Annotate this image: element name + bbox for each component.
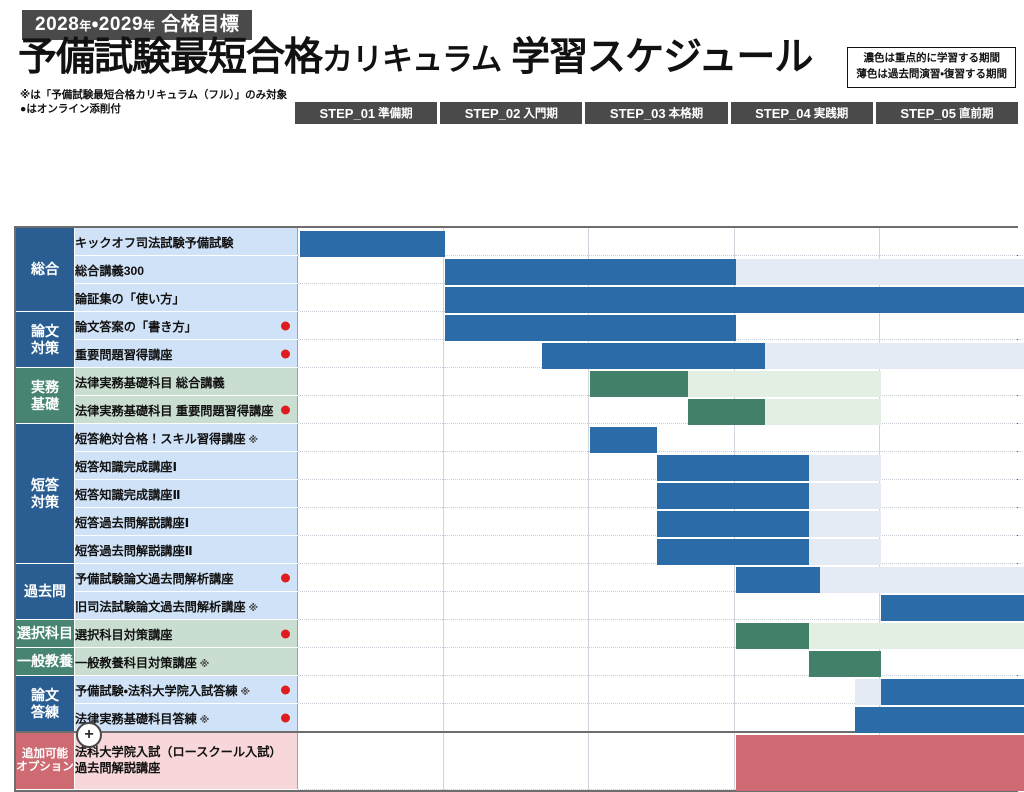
schedule-cell-step5: [880, 620, 1024, 648]
schedule-cell-step3: [589, 312, 735, 340]
course-name-label: 短答過去問解説講座Ⅱ: [75, 544, 193, 558]
table-row: 短答知識完成講座Ⅱ: [16, 480, 1024, 508]
schedule-cell-step1: [298, 396, 444, 424]
schedule-cell-step2: [443, 340, 589, 368]
schedule-cell-step3: [589, 564, 735, 592]
schedule-cell-step2: [443, 704, 589, 733]
schedule-cell-step1: [298, 424, 444, 452]
table-row: 重要問題習得講座: [16, 340, 1024, 368]
schedule-table: 総合キックオフ司法試験予備試験総合講義300論証集の「使い方」論文対策論文答案の…: [16, 228, 1024, 790]
schedule-cell-step5: [880, 424, 1024, 452]
schedule-table-body: 総合キックオフ司法試験予備試験総合講義300論証集の「使い方」論文対策論文答案の…: [16, 228, 1024, 790]
title-part-1: 予備試験最短合格: [18, 36, 322, 79]
schedule-cell-step5: [880, 592, 1024, 620]
step-header-row: STEP_01準備期STEP_02入門期STEP_03本格期STEP_04実践期…: [295, 102, 1018, 124]
schedule-cell-step1: [298, 228, 444, 256]
table-row: 短答知識完成講座Ⅰ: [16, 452, 1024, 480]
schedule-cell-step1: [298, 592, 444, 620]
course-name-label: 論文答案の「書き方」: [75, 320, 197, 334]
schedule-cell-step1: [298, 480, 444, 508]
schedule-cell-step4: [734, 732, 880, 790]
category-label-line1: 短答: [16, 477, 74, 493]
schedule-cell-step4: [734, 368, 880, 396]
schedule-cell-step2: [443, 424, 589, 452]
title-part-2: カリキュラム: [322, 42, 501, 77]
schedule-cell-step2: [443, 368, 589, 396]
course-name-label: キックオフ司法試験予備試験: [75, 236, 233, 250]
schedule-cell-step5: [880, 480, 1024, 508]
schedule-table-wrap: 総合キックオフ司法試験予備試験総合講義300論証集の「使い方」論文対策論文答案の…: [14, 226, 1018, 792]
schedule-cell-step4: [734, 312, 880, 340]
schedule-cell-step5: [880, 648, 1024, 676]
course-name-cell: 論証集の「使い方」: [75, 284, 298, 312]
course-name-cell: 一般教養科目対策講座 ※: [75, 648, 298, 676]
step-label: 直前期: [959, 105, 994, 121]
schedule-cell-step1: [298, 508, 444, 536]
step-header-2: STEP_02入門期: [440, 102, 582, 124]
schedule-cell-step5: [880, 508, 1024, 536]
course-name-label: 総合講義300: [75, 264, 144, 278]
schedule-cell-step4: [734, 396, 880, 424]
schedule-cell-step4: [734, 704, 880, 733]
schedule-cell-step2: [443, 312, 589, 340]
course-name-line1: 法科大学院入試（ロースクール入試）: [75, 745, 297, 761]
table-row: 短答過去問解説講座Ⅰ: [16, 508, 1024, 536]
legend-dark-line: 濃色は重点的に学習する期間: [856, 51, 1007, 67]
schedule-cell-step4: [734, 564, 880, 592]
schedule-cell-step3: [589, 648, 735, 676]
schedule-cell-step1: [298, 648, 444, 676]
schedule-cell-step5: [880, 704, 1024, 733]
schedule-cell-step4: [734, 536, 880, 564]
course-name-label: 一般教養科目対策講座: [75, 656, 197, 670]
course-name-cell: 法律実務基礎科目 重要問題習得講座: [75, 396, 298, 424]
table-row: 総合講義300: [16, 256, 1024, 284]
course-name-label: 予備試験・法科大学院入試答練: [75, 684, 238, 698]
category-label-line2: 対策: [16, 340, 74, 356]
schedule-cell-step1: [298, 536, 444, 564]
table-row: 選択科目選択科目対策講座: [16, 620, 1024, 648]
schedule-cell-step1: [298, 312, 444, 340]
schedule-cell-step5: [880, 256, 1024, 284]
schedule-cell-step3: [589, 536, 735, 564]
schedule-cell-step4: [734, 228, 880, 256]
asterisk-marker-icon: ※: [246, 435, 259, 446]
category-label-line2: 基礎: [16, 396, 74, 412]
course-name-cell: 予備試験論文過去問解析講座: [75, 564, 298, 592]
schedule-cell-step2: [443, 452, 589, 480]
course-name-label: 論証集の「使い方」: [75, 292, 185, 306]
step-code: STEP_03: [610, 106, 666, 121]
online-marking-dot-icon: [281, 405, 290, 414]
schedule-cell-step2: [443, 648, 589, 676]
table-row: 総合キックオフ司法試験予備試験: [16, 228, 1024, 256]
step-label: 準備期: [378, 105, 413, 121]
course-name-cell: 論文答案の「書き方」: [75, 312, 298, 340]
online-marking-dot-icon: [281, 573, 290, 582]
course-name-label: 短答絶対合格！スキル習得講座: [75, 432, 246, 446]
course-name-cell: 短答知識完成講座Ⅰ: [75, 452, 298, 480]
table-row: 一般教養一般教養科目対策講座 ※: [16, 648, 1024, 676]
schedule-cell-step4: [734, 620, 880, 648]
category-label-8: 論文答練: [16, 676, 75, 733]
add-option-plus-icon[interactable]: +: [76, 722, 102, 748]
schedule-cell-step5: [880, 228, 1024, 256]
step-code: STEP_02: [465, 106, 521, 121]
category-label-7: 一般教養: [16, 648, 75, 676]
course-name-label: 重要問題習得講座: [75, 348, 173, 362]
category-label-line1: 論文: [16, 323, 74, 339]
course-name-label: 短答過去問解説講座Ⅰ: [75, 516, 189, 530]
schedule-cell-step5: [880, 312, 1024, 340]
course-name-cell: 総合講義300: [75, 256, 298, 284]
schedule-cell-step4: [734, 452, 880, 480]
category-label-line2: オプション: [16, 761, 74, 774]
step-code: STEP_05: [900, 106, 956, 121]
table-row: 追加可能オプション+法科大学院入試（ロースクール入試）過去問解説講座: [16, 732, 1024, 790]
schedule-cell-step5: [880, 396, 1024, 424]
course-name-cell: 法科大学院入試（ロースクール入試）過去問解説講座: [75, 732, 298, 790]
course-name-cell: 短答過去問解説講座Ⅱ: [75, 536, 298, 564]
course-name-cell: 重要問題習得講座: [75, 340, 298, 368]
category-label-3: 実務基礎: [16, 368, 75, 424]
step-code: STEP_01: [320, 106, 376, 121]
table-row: 過去問予備試験論文過去問解析講座: [16, 564, 1024, 592]
schedule-cell-step5: [880, 536, 1024, 564]
schedule-cell-step3: [589, 340, 735, 368]
schedule-cell-step4: [734, 340, 880, 368]
schedule-cell-step2: [443, 592, 589, 620]
schedule-cell-step1: [298, 704, 444, 733]
schedule-cell-step3: [589, 424, 735, 452]
schedule-cell-step2: [443, 564, 589, 592]
online-marking-dot-icon: [281, 713, 290, 722]
schedule-cell-step4: [734, 284, 880, 312]
online-marking-dot-icon: [281, 685, 290, 694]
schedule-cell-step3: [589, 256, 735, 284]
schedule-cell-step1: [298, 368, 444, 396]
course-name-cell: 法律実務基礎科目 総合講義: [75, 368, 298, 396]
title-part-3: 学習スケジュール: [511, 36, 812, 79]
table-row: 旧司法試験論文過去問解析講座 ※: [16, 592, 1024, 620]
schedule-cell-step1: [298, 452, 444, 480]
course-name-line2: 過去問解説講座: [75, 761, 297, 777]
course-name-label: 法律実務基礎科目 重要問題習得講座: [75, 404, 273, 418]
category-label-9: 追加可能オプション+: [16, 732, 75, 790]
note-asterisk: ※は「予備試験最短合格カリキュラム（フル）」のみ対象: [20, 88, 287, 102]
schedule-cell-step4: [734, 256, 880, 284]
online-marking-dot-icon: [281, 321, 290, 330]
table-row: 実務基礎法律実務基礎科目 総合講義: [16, 368, 1024, 396]
schedule-cell-step4: [734, 508, 880, 536]
schedule-cell-step1: [298, 564, 444, 592]
course-name-cell: 短答知識完成講座Ⅱ: [75, 480, 298, 508]
category-label-2: 論文対策: [16, 312, 75, 368]
schedule-cell-step5: [880, 368, 1024, 396]
course-name-cell: キックオフ司法試験予備試験: [75, 228, 298, 256]
schedule-cell-step1: [298, 676, 444, 704]
step-label: 入門期: [523, 105, 558, 121]
schedule-cell-step2: [443, 620, 589, 648]
course-name-cell: 旧司法試験論文過去問解析講座 ※: [75, 592, 298, 620]
schedule-cell-step2: [443, 732, 589, 790]
online-marking-dot-icon: [281, 349, 290, 358]
schedule-cell-step3: [589, 704, 735, 733]
course-name-cell: 短答過去問解説講座Ⅰ: [75, 508, 298, 536]
online-marking-dot-icon: [281, 629, 290, 638]
asterisk-marker-icon: ※: [238, 687, 251, 698]
schedule-cell-step3: [589, 592, 735, 620]
step-header-5: STEP_05直前期: [876, 102, 1018, 124]
schedule-cell-step3: [589, 284, 735, 312]
course-name-label: 短答知識完成講座Ⅱ: [75, 488, 181, 502]
table-row: 法律実務基礎科目 重要問題習得講座: [16, 396, 1024, 424]
schedule-cell-step4: [734, 424, 880, 452]
schedule-cell-step3: [589, 620, 735, 648]
note-online: ●はオンライン添削付: [20, 102, 287, 116]
schedule-cell-step2: [443, 396, 589, 424]
step-label: 本格期: [669, 105, 704, 121]
schedule-cell-step4: [734, 480, 880, 508]
step-header-1: STEP_01準備期: [295, 102, 437, 124]
table-row: 論文対策論文答案の「書き方」: [16, 312, 1024, 340]
table-row: 短答対策短答絶対合格！スキル習得講座 ※: [16, 424, 1024, 452]
step-header-3: STEP_03本格期: [585, 102, 727, 124]
asterisk-marker-icon: ※: [246, 603, 259, 614]
schedule-cell-step5: [880, 452, 1024, 480]
asterisk-marker-icon: ※: [197, 659, 210, 670]
page-title: 予備試験最短合格カリキュラム学習スケジュール: [18, 38, 812, 77]
schedule-cell-step5: [880, 340, 1024, 368]
schedule-cell-step1: [298, 732, 444, 790]
schedule-cell-step1: [298, 340, 444, 368]
step-code: STEP_04: [755, 106, 811, 121]
schedule-cell-step1: [298, 256, 444, 284]
schedule-cell-step2: [443, 508, 589, 536]
category-label-line1: 実務: [16, 379, 74, 395]
course-name-label: 予備試験論文過去問解析講座: [75, 572, 233, 586]
category-label-line2: 答練: [16, 704, 74, 720]
step-label: 実践期: [814, 105, 849, 121]
title-notes: ※は「予備試験最短合格カリキュラム（フル）」のみ対象 ●はオンライン添削付: [20, 88, 287, 116]
schedule-cell-step3: [589, 676, 735, 704]
schedule-cell-step2: [443, 676, 589, 704]
schedule-cell-step3: [589, 368, 735, 396]
schedule-cell-step5: [880, 284, 1024, 312]
schedule-cell-step3: [589, 396, 735, 424]
table-row: 法律実務基礎科目答練 ※: [16, 704, 1024, 733]
schedule-cell-step3: [589, 508, 735, 536]
schedule-cell-step2: [443, 256, 589, 284]
schedule-cell-step4: [734, 592, 880, 620]
category-label-6: 選択科目: [16, 620, 75, 648]
course-name-cell: 選択科目対策講座: [75, 620, 298, 648]
category-label-4: 短答対策: [16, 424, 75, 564]
course-name-cell: 法律実務基礎科目答練 ※: [75, 704, 298, 733]
year-badge-text: 2028年・2029年 合格目標: [35, 14, 239, 35]
schedule-cell-step5: [880, 564, 1024, 592]
schedule-cell-step4: [734, 676, 880, 704]
course-name-cell: 予備試験・法科大学院入試答練 ※: [75, 676, 298, 704]
schedule-page: 2028年・2029年 合格目標 予備試験最短合格カリキュラム学習スケジュール …: [0, 0, 1024, 642]
schedule-cell-step5: [880, 676, 1024, 704]
category-label-line2: 対策: [16, 494, 74, 510]
schedule-cell-step2: [443, 536, 589, 564]
schedule-cell-step1: [298, 284, 444, 312]
schedule-cell-step3: [589, 452, 735, 480]
category-label-line1: 論文: [16, 687, 74, 703]
course-name-label: 短答知識完成講座Ⅰ: [75, 460, 177, 474]
schedule-cell-step1: [298, 620, 444, 648]
course-name-label: 法律実務基礎科目 総合講義: [75, 376, 225, 390]
table-row: 論証集の「使い方」: [16, 284, 1024, 312]
category-label-line1: 追加可能: [16, 748, 74, 761]
step-header-4: STEP_04実践期: [731, 102, 873, 124]
course-name-label: 選択科目対策講座: [75, 628, 173, 642]
legend-light-line: 薄色は過去問演習・復習する期間: [856, 67, 1007, 83]
schedule-cell-step3: [589, 480, 735, 508]
table-row: 短答過去問解説講座Ⅱ: [16, 536, 1024, 564]
category-label-5: 過去問: [16, 564, 75, 620]
course-name-label: 旧司法試験論文過去問解析講座: [75, 600, 246, 614]
schedule-cell-step3: [589, 732, 735, 790]
page-header: 2028年・2029年 合格目標 予備試験最短合格カリキュラム学習スケジュール …: [0, 0, 1024, 100]
category-label-1: 総合: [16, 228, 75, 312]
schedule-cell-step2: [443, 284, 589, 312]
course-name-cell: 短答絶対合格！スキル習得講座 ※: [75, 424, 298, 452]
schedule-cell-step2: [443, 480, 589, 508]
schedule-cell-step2: [443, 228, 589, 256]
color-legend: 濃色は重点的に学習する期間 薄色は過去問演習・復習する期間: [847, 47, 1016, 88]
schedule-cell-step3: [589, 228, 735, 256]
schedule-cell-step5: [880, 732, 1024, 790]
schedule-cell-step4: [734, 648, 880, 676]
table-row: 論文答練予備試験・法科大学院入試答練 ※: [16, 676, 1024, 704]
asterisk-marker-icon: ※: [197, 715, 210, 726]
